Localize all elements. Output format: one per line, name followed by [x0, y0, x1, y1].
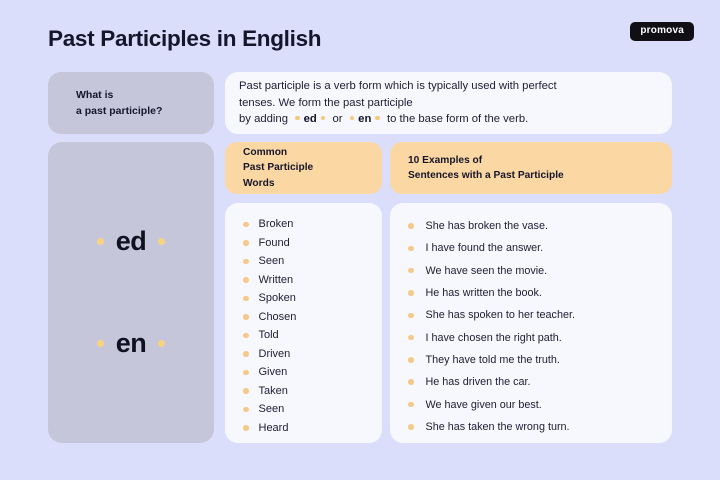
- word-list-item: Found: [225, 234, 382, 253]
- definition-conjunction: or: [332, 113, 342, 125]
- question-box: What is a past participle?: [48, 72, 214, 134]
- sentence-list-item: We have seen the movie.: [390, 260, 672, 282]
- bullet-dot-icon: [408, 290, 414, 296]
- bullet-dot-icon: [408, 335, 414, 341]
- bullet-dot-icon: [408, 313, 414, 319]
- word-list-item: Written: [225, 271, 382, 290]
- dot-icon: [97, 238, 104, 245]
- definition-line-3-suffix: to the base form of the verb.: [387, 113, 528, 125]
- word-list-item-label: Given: [259, 366, 288, 378]
- bullet-dot-icon: [243, 333, 249, 339]
- definition-suffix-ed: ed: [291, 113, 332, 125]
- word-list-item: Seen: [225, 400, 382, 419]
- sentences-list: She has broken the vase.I have found the…: [390, 215, 672, 438]
- question-box-text: What is a past participle?: [48, 87, 162, 120]
- definition-suffix-ed-label: ed: [304, 113, 317, 125]
- dot-icon: [295, 116, 300, 121]
- word-list-item: Spoken: [225, 289, 382, 308]
- word-list-item-label: Broken: [259, 218, 294, 230]
- bullet-dot-icon: [243, 388, 249, 394]
- bullet-dot-icon: [243, 351, 249, 357]
- sentence-list-item: They have told me the truth.: [390, 349, 672, 371]
- sentences-column-header: 10 Examples of Sentences with a Past Par…: [390, 142, 672, 194]
- bullet-dot-icon: [243, 314, 249, 320]
- sentence-list-item: We have given our best.: [390, 393, 672, 415]
- bullet-dot-icon: [243, 259, 249, 265]
- definition-suffix-en: en: [346, 113, 387, 125]
- definition-box: Past participle is a verb form which is …: [225, 72, 672, 134]
- word-list-item-label: Seen: [259, 403, 285, 415]
- dot-icon: [158, 340, 165, 347]
- word-list-item: Taken: [225, 382, 382, 401]
- word-list-item-label: Spoken: [259, 292, 296, 304]
- sentence-list-item: She has broken the vase.: [390, 215, 672, 237]
- bullet-dot-icon: [243, 407, 249, 413]
- word-list-item: Broken: [225, 215, 382, 234]
- sentence-list-item: She has taken the wrong turn.: [390, 416, 672, 438]
- bullet-dot-icon: [243, 296, 249, 302]
- sentence-list-item-label: I have chosen the right path.: [426, 332, 562, 344]
- word-list-item: Chosen: [225, 308, 382, 327]
- bullet-dot-icon: [243, 425, 249, 431]
- word-list-item-label: Told: [259, 329, 279, 341]
- words-column-body: BrokenFoundSeenWrittenSpokenChosenToldDr…: [225, 203, 382, 443]
- suffix-label-en: en: [116, 330, 147, 357]
- word-list-item: Heard: [225, 419, 382, 438]
- sentence-list-item-label: She has broken the vase.: [426, 220, 548, 232]
- bullet-dot-icon: [408, 379, 414, 385]
- word-list-item: Told: [225, 326, 382, 345]
- definition-line-1: Past participle is a verb form which is …: [239, 80, 557, 92]
- word-list-item-label: Taken: [259, 385, 288, 397]
- definition-text: Past participle is a verb form which is …: [225, 78, 575, 127]
- words-column-header: Common Past Participle Words: [225, 142, 382, 194]
- suffix-label-ed: ed: [116, 228, 147, 255]
- bullet-dot-icon: [243, 222, 249, 228]
- sentence-list-item-label: We have seen the movie.: [426, 265, 548, 277]
- bullet-dot-icon: [408, 424, 414, 430]
- sentence-list-item: He has written the book.: [390, 282, 672, 304]
- suffix-panel: ed en: [48, 142, 214, 443]
- suffix-row-ed: ed: [48, 228, 214, 255]
- bullet-dot-icon: [408, 402, 414, 408]
- sentences-column-body: She has broken the vase.I have found the…: [390, 203, 672, 443]
- dot-icon: [321, 116, 326, 121]
- word-list-item: Seen: [225, 252, 382, 271]
- bullet-dot-icon: [408, 223, 414, 229]
- bullet-dot-icon: [408, 268, 414, 274]
- bullet-dot-icon: [408, 246, 414, 252]
- sentences-column-heading-text: 10 Examples of Sentences with a Past Par…: [390, 153, 564, 184]
- bullet-dot-icon: [243, 277, 249, 283]
- bullet-dot-icon: [243, 370, 249, 376]
- sentence-list-item: I have chosen the right path.: [390, 326, 672, 348]
- word-list-item: Driven: [225, 345, 382, 364]
- promova-logo: promova: [630, 22, 694, 41]
- definition-line-2: tenses. We form the past participle: [239, 97, 413, 109]
- word-list-item-label: Found: [259, 237, 290, 249]
- word-list-item-label: Written: [259, 274, 294, 286]
- sentence-list-item-label: He has driven the car.: [426, 376, 531, 388]
- suffix-row-en: en: [48, 330, 214, 357]
- definition-suffix-en-label: en: [358, 113, 371, 125]
- dot-icon: [375, 116, 380, 121]
- sentence-list-item-label: She has taken the wrong turn.: [426, 421, 570, 433]
- sentence-list-item-label: She has spoken to her teacher.: [426, 309, 575, 321]
- sentence-list-item-label: I have found the answer.: [426, 242, 544, 254]
- sentence-list-item: I have found the answer.: [390, 237, 672, 259]
- bullet-dot-icon: [243, 240, 249, 246]
- dot-icon: [350, 116, 355, 121]
- sentence-list-item-label: He has written the book.: [426, 287, 542, 299]
- word-list-item-label: Chosen: [259, 311, 297, 323]
- words-list: BrokenFoundSeenWrittenSpokenChosenToldDr…: [225, 215, 382, 437]
- words-column-heading-text: Common Past Participle Words: [225, 145, 313, 191]
- bullet-dot-icon: [408, 357, 414, 363]
- definition-line-3-prefix: by adding: [239, 113, 288, 125]
- sentence-list-item-label: They have told me the truth.: [426, 354, 560, 366]
- dot-icon: [158, 238, 165, 245]
- word-list-item-label: Driven: [259, 348, 291, 360]
- page-title: Past Participles in English: [48, 26, 321, 52]
- word-list-item-label: Heard: [259, 422, 289, 434]
- dot-icon: [97, 340, 104, 347]
- sentence-list-item: She has spoken to her teacher.: [390, 304, 672, 326]
- sentence-list-item-label: We have given our best.: [426, 399, 542, 411]
- sentence-list-item: He has driven the car.: [390, 371, 672, 393]
- word-list-item: Given: [225, 363, 382, 382]
- word-list-item-label: Seen: [259, 255, 285, 267]
